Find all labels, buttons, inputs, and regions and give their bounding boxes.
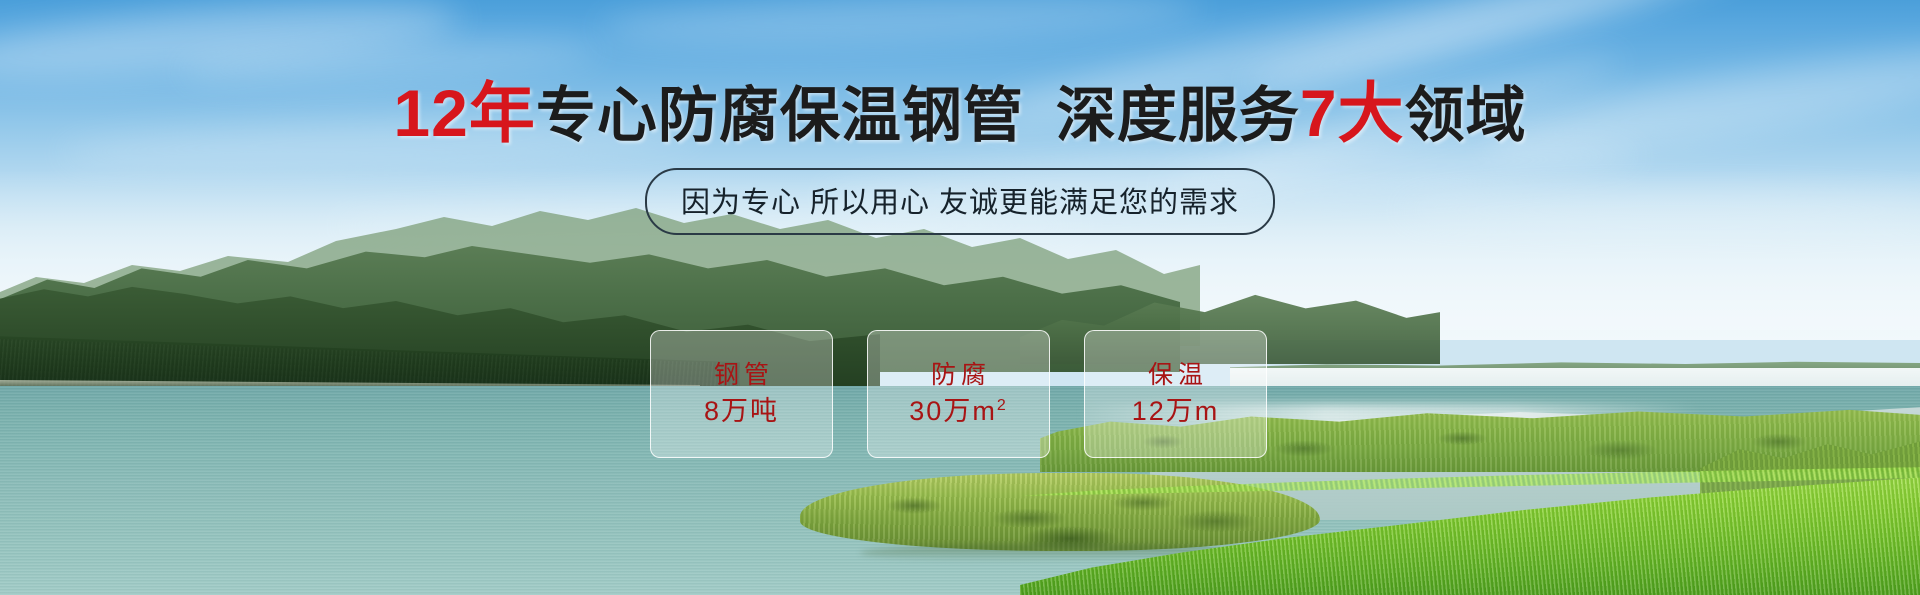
stat-card-label: 保温 bbox=[1143, 363, 1208, 388]
stat-card-value-text: 30万m bbox=[909, 396, 997, 426]
headline-fields-count: 7大 bbox=[1300, 76, 1405, 150]
stat-card-anticorrosion[interactable]: 防腐 30万m2 bbox=[867, 330, 1050, 458]
stat-card-value-text: 8万吨 bbox=[704, 396, 779, 426]
headline-service: 深度服务 bbox=[1056, 82, 1300, 149]
stat-card-label: 防腐 bbox=[926, 363, 991, 388]
stat-card-value: 12万m bbox=[1132, 398, 1220, 425]
stat-cards: 钢管 8万吨 防腐 30万m2 保温 12万m bbox=[650, 330, 1267, 458]
hero-banner: 12年专心防腐保温钢管深度服务7大领域 因为专心 所以用心 友诚更能满足您的需求… bbox=[0, 0, 1920, 595]
stat-card-value: 30万m2 bbox=[909, 398, 1007, 425]
headline: 12年专心防腐保温钢管深度服务7大领域 bbox=[0, 80, 1920, 146]
stat-card-insulation[interactable]: 保温 12万m bbox=[1084, 330, 1267, 458]
stat-card-value-superscript: 2 bbox=[997, 397, 1008, 414]
stat-card-value: 8万吨 bbox=[704, 398, 779, 425]
subtitle-container: 因为专心 所以用心 友诚更能满足您的需求 bbox=[0, 168, 1920, 235]
headline-fields: 领域 bbox=[1405, 82, 1527, 149]
stat-card-value-text: 12万m bbox=[1132, 396, 1220, 426]
headline-years: 12年 bbox=[393, 76, 535, 150]
stat-card-label: 钢管 bbox=[709, 363, 774, 388]
subtitle-pill: 因为专心 所以用心 友诚更能满足您的需求 bbox=[645, 168, 1275, 235]
stat-card-steel-pipe[interactable]: 钢管 8万吨 bbox=[650, 330, 833, 458]
headline-main: 专心防腐保温钢管 bbox=[536, 82, 1024, 149]
